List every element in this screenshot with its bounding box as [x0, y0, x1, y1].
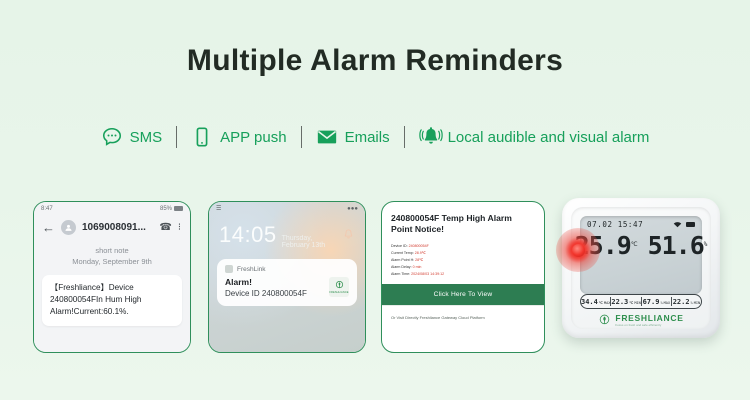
feature-divider	[176, 126, 177, 148]
envelope-icon	[316, 126, 338, 148]
channel-cards: 8:47 85% ← 1069008091... ☎ ⁝ short note …	[0, 196, 750, 366]
feature-label: Local audible and visual alarm	[448, 129, 650, 146]
stat-temp-max: 34.4 ℃ MAX	[581, 298, 610, 306]
email-detail-row: Alarm Delay: 0 min	[391, 264, 535, 271]
notification-body: Alarm! Device ID 240800054F FRESHLIANCE	[225, 277, 349, 298]
feature-local-alarm[interactable]: Local audible and visual alarm	[405, 126, 664, 148]
sms-message-bubble: 【Freshliance】Device 240800054FIn Hum Hig…	[42, 275, 182, 326]
sms-meta-line-1: short note	[42, 246, 182, 257]
lcd-indicators	[673, 221, 695, 228]
detail-label: Current Temp:	[391, 251, 414, 255]
lcd-datetime: 07.02 15:47	[587, 220, 643, 229]
brand-text: FRESHLIANCE Focus on fresh and safe effi…	[615, 314, 683, 327]
alarm-bell-icon	[419, 126, 441, 148]
alarm-led-indicator	[556, 228, 600, 272]
logo-caption: FRESHLIANCE	[329, 291, 348, 294]
brand-tagline: Focus on fresh and safe efficiently	[615, 324, 683, 327]
stat-value: 34.4	[581, 298, 598, 306]
feature-divider	[404, 126, 405, 148]
stat-unit: %	[691, 302, 693, 306]
detail-label: Alarm Time:	[391, 272, 410, 276]
email-subject: 240800054F Temp High Alarm Point Notice!	[391, 213, 535, 235]
stat-hum-max: 67.9 % MAX	[642, 298, 671, 306]
stat-value: 67.9	[643, 298, 660, 306]
humidity-value: 51.6	[648, 233, 704, 258]
alarm-led-core	[572, 244, 585, 257]
sms-status-time: 8:47	[41, 206, 53, 212]
poster-background: Multiple Alarm Reminders SMS	[0, 0, 750, 400]
email-card: 240800054F Temp High Alarm Point Notice!…	[381, 201, 545, 353]
email-footer-text: Or Visit Directly Freshliance Gateway Cl…	[391, 315, 535, 320]
stat-unit: ℃	[629, 302, 633, 306]
sms-sender-number: 1069008091...	[82, 222, 153, 233]
feature-label: SMS	[130, 129, 163, 146]
notification-header: FreshLink	[225, 265, 349, 273]
lcd-date: 07.02	[587, 220, 613, 229]
sensor-device: 07.02 15:47 25.9 ℃ 51.	[562, 196, 724, 361]
sms-conversation-header: ← 1069008091... ☎ ⁝	[34, 215, 190, 242]
avatar	[61, 220, 76, 235]
stat-temp-min: 22.3 ℃ MIN	[611, 298, 640, 306]
notification-text: Device ID 240800054F	[225, 289, 307, 298]
detail-label: Device ID:	[391, 244, 408, 248]
device-branding: FRESHLIANCE Focus on fresh and safe effi…	[571, 314, 711, 327]
tree-logo-icon	[598, 314, 611, 327]
lockscreen-clock-row: 14:05 Thursday, February 13th	[209, 215, 365, 249]
detail-value: 2024/08/03 14:39:12	[411, 272, 444, 276]
mobile-phone-icon	[191, 126, 213, 148]
detail-label: Alarm Point H:	[391, 258, 414, 262]
sms-status-indicators: 85%	[160, 206, 183, 212]
feature-divider	[301, 126, 302, 148]
stat-hum-min: 22.2 % MIN	[672, 298, 701, 306]
sms-phone-card: 8:47 85% ← 1069008091... ☎ ⁝ short note …	[33, 201, 191, 353]
battery-icon	[686, 222, 695, 227]
sms-chat-icon	[101, 126, 123, 148]
more-options-icon[interactable]: ⁝	[178, 222, 182, 233]
stat-kind: MIN	[694, 302, 701, 306]
sms-meta-line-2: Monday, September 9th	[42, 257, 182, 268]
feature-sms[interactable]: SMS	[87, 126, 177, 148]
humidity-unit: %	[704, 242, 708, 249]
app-status-bar: ☰ ●●●	[209, 202, 365, 215]
app-push-card: ☰ ●●● 14:05 Thursday, February 13th	[208, 201, 366, 353]
lcd-time: 15:47	[618, 220, 644, 229]
notification-title: Alarm!	[225, 277, 307, 287]
stat-unit: ℃	[599, 302, 603, 306]
detail-value: 28.9℃	[415, 251, 426, 255]
detail-value: 0 min	[413, 265, 422, 269]
click-here-to-view-button[interactable]: Click Here To View	[382, 284, 544, 305]
device-faceplate: 07.02 15:47 25.9 ℃ 51.	[571, 207, 711, 329]
email-header: 240800054F Temp High Alarm Point Notice!…	[382, 202, 544, 284]
lockscreen-time: 14:05	[219, 224, 277, 246]
feature-app-push[interactable]: APP push	[177, 126, 300, 148]
email-detail-row: Alarm Point H: 28℃	[391, 257, 535, 264]
wifi-icon	[673, 221, 682, 228]
sms-status-bar: 8:47 85%	[34, 202, 190, 215]
detail-label: Alarm Delay:	[391, 265, 412, 269]
brand-name: FRESHLIANCE	[615, 314, 683, 323]
page-title: Multiple Alarm Reminders	[0, 44, 750, 78]
detail-value: 240800054F	[409, 244, 429, 248]
feature-label: APP push	[220, 129, 286, 146]
feature-emails[interactable]: Emails	[302, 126, 404, 148]
bell-icon	[342, 228, 355, 241]
email-detail-row: Current Temp: 28.9℃	[391, 250, 535, 257]
push-notification[interactable]: FreshLink Alarm! Device ID 240800054F FR…	[217, 259, 357, 306]
sms-thread: short note Monday, September 9th 【Freshl…	[34, 242, 190, 352]
stat-unit: %	[660, 302, 662, 306]
app-status-right: ●●●	[347, 206, 358, 212]
notification-app-name: FreshLink	[237, 266, 266, 273]
email-detail-row: Device ID: 240800054F	[391, 243, 535, 250]
feature-row: SMS APP push Emails	[0, 126, 750, 148]
temperature-unit: ℃	[631, 242, 638, 249]
stat-kind: MAX	[664, 302, 671, 306]
email-footer: Or Visit Directly Freshliance Gateway Cl…	[382, 305, 544, 352]
feature-label: Emails	[345, 129, 390, 146]
phone-call-icon[interactable]: ☎	[159, 222, 171, 233]
sms-thread-meta: short note Monday, September 9th	[42, 246, 182, 268]
app-status-left: ☰	[216, 205, 221, 212]
detail-value: 28℃	[415, 258, 423, 262]
email-detail-row: Alarm Time: 2024/08/03 14:39:12	[391, 271, 535, 278]
freshliance-logo-icon: FRESHLIANCE	[329, 277, 349, 297]
lockscreen-date: Thursday, February 13th	[282, 235, 342, 249]
stat-value: 22.3	[611, 298, 628, 306]
lcd-status-row: 07.02 15:47	[580, 216, 702, 229]
lcd-minmax-row: 34.4 ℃ MAX 22.3 ℃ MIN 67.9	[580, 294, 702, 309]
stat-value: 22.2	[673, 298, 690, 306]
sms-battery-percent: 85%	[160, 206, 172, 212]
back-arrow-icon[interactable]: ←	[42, 221, 55, 234]
battery-icon	[174, 206, 183, 211]
device-housing: 07.02 15:47 25.9 ℃ 51.	[562, 198, 720, 338]
app-icon	[225, 265, 233, 273]
